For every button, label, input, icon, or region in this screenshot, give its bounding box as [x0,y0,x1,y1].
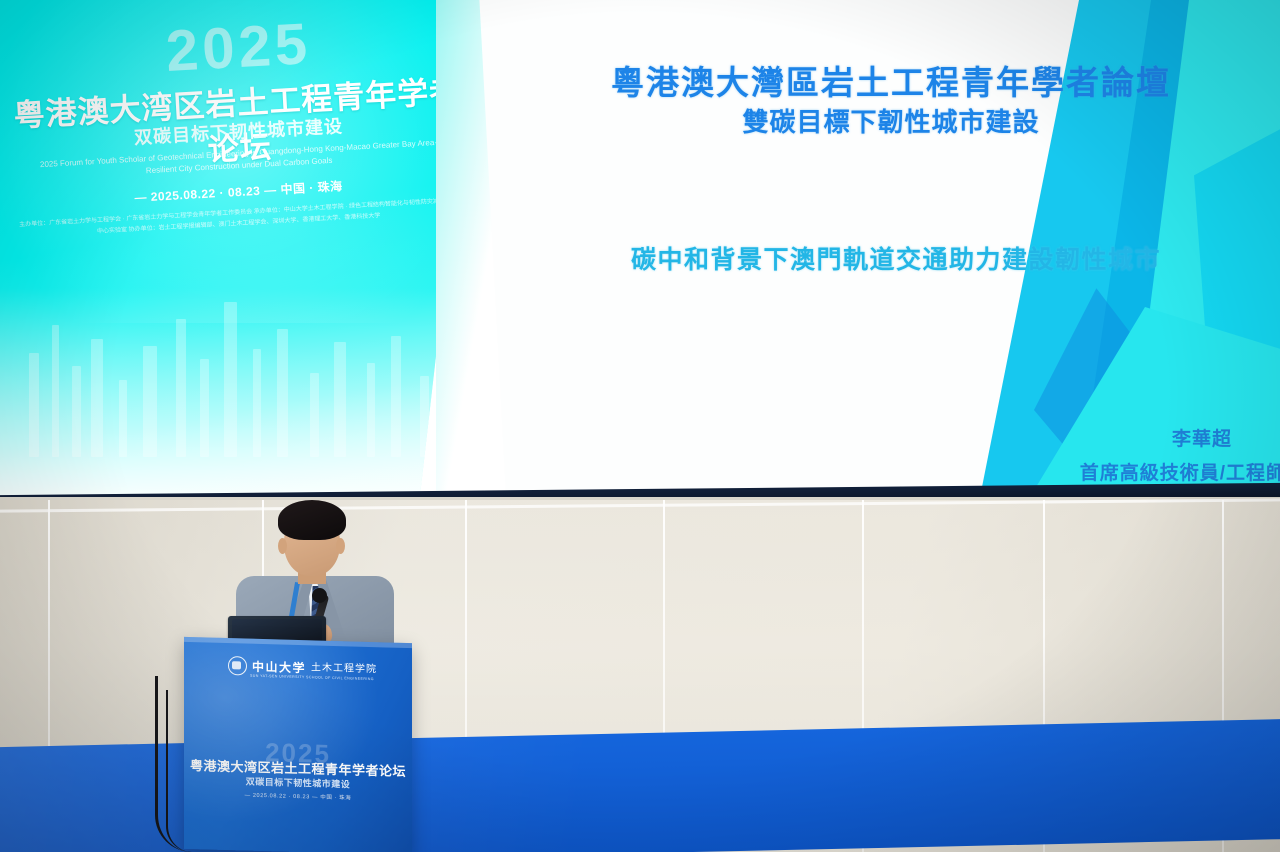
microphone-icon [312,588,327,603]
university-seal-icon [228,656,247,676]
school-name: 土木工程学院 [311,663,377,675]
speaker-ear-left [278,538,287,554]
podium-cable [166,690,192,852]
podium: 中山大学 土木工程学院 SUN YAT-SEN UNIVERSITY SCHOO… [184,637,412,852]
university-name: 中山大学 [252,660,306,674]
speaker-hair [278,500,346,540]
speaker-ear-right [336,538,345,554]
conference-photo: 2025 粤港澳大湾区岩土工程青年学者论坛 双碳目标下韧性城市建设 2025 F… [0,0,1280,852]
